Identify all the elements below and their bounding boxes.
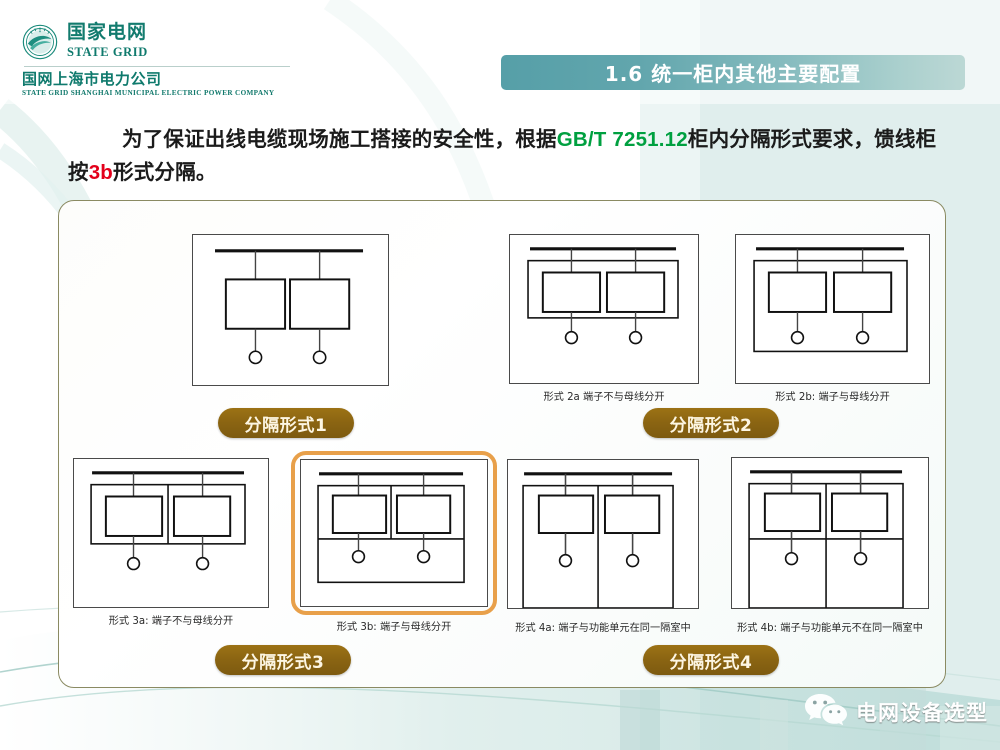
logo-cn-name: 国家电网 (67, 21, 147, 43)
logo-divider (24, 66, 290, 67)
caption-form-2a: 形式 2a 端子不与母线分开 (509, 388, 699, 403)
pill-form-3-label: 分隔形式3 (242, 648, 325, 673)
state-grid-logo: 国家电网 STATE GRID 国网上海市电力公司 STATE GRID SHA… (22, 22, 322, 98)
diagram-form-4a (507, 459, 699, 609)
diagram-form-2a (509, 234, 699, 384)
pill-form-4-label: 分隔形式4 (670, 648, 753, 673)
caption-form-4a: 形式 4a: 端子与功能单元在同一隔室中 (487, 619, 719, 634)
wechat-icon (804, 691, 848, 732)
logo-en-name: STATE GRID (67, 45, 148, 59)
body-paragraph: 为了保证出线电缆现场施工搭接的安全性，根据GB/T 7251.12柜内分隔形式要… (68, 123, 948, 189)
diagram-form-4b (731, 457, 929, 609)
pill-form-1[interactable]: 分隔形式1 (218, 408, 354, 438)
highlight-form-3b (291, 451, 497, 615)
caption-form-4b: 形式 4b: 端子与功能单元不在同一隔室中 (711, 619, 949, 634)
diagram-panel: 形式 2a 端子不与母线分开 形式 2b: 端子与母线分开 (58, 200, 946, 688)
diagram-form-1 (192, 234, 389, 386)
diagram-form-2b (735, 234, 930, 384)
page-title: 1.6 统一柜内其他主要配置 (605, 58, 861, 87)
caption-form-3a: 形式 3a: 端子不与母线分开 (73, 612, 269, 627)
pill-form-2[interactable]: 分隔形式2 (643, 408, 779, 438)
diagram-form-3a (73, 458, 269, 608)
pill-form-3[interactable]: 分隔形式3 (215, 645, 351, 675)
wechat-watermark: 电网设备选型 (804, 691, 988, 732)
form-reference: 3b (89, 161, 113, 184)
section-title-bar: 1.6 统一柜内其他主要配置 (501, 55, 965, 90)
paragraph-part-3: 形式分隔。 (113, 160, 217, 184)
pill-form-4[interactable]: 分隔形式4 (643, 645, 779, 675)
paragraph-part-1: 为了保证出线电缆现场施工搭接的安全性，根据 (122, 127, 557, 151)
caption-form-2b: 形式 2b: 端子与母线分开 (735, 388, 930, 403)
standard-reference: GB/T 7251.12 (557, 128, 688, 151)
wechat-account-name: 电网设备选型 (856, 697, 988, 727)
pill-form-1-label: 分隔形式1 (245, 411, 328, 436)
logo-sub-en-name: STATE GRID SHANGHAI MUNICIPAL ELECTRIC P… (22, 88, 322, 98)
slide-header: 国家电网 STATE GRID 国网上海市电力公司 STATE GRID SHA… (0, 0, 1000, 105)
state-grid-emblem-icon (22, 24, 58, 60)
pill-form-2-label: 分隔形式2 (670, 411, 753, 436)
caption-form-3b: 形式 3b: 端子与母线分开 (294, 618, 494, 633)
logo-sub-cn-name: 国网上海市电力公司 (22, 71, 322, 88)
